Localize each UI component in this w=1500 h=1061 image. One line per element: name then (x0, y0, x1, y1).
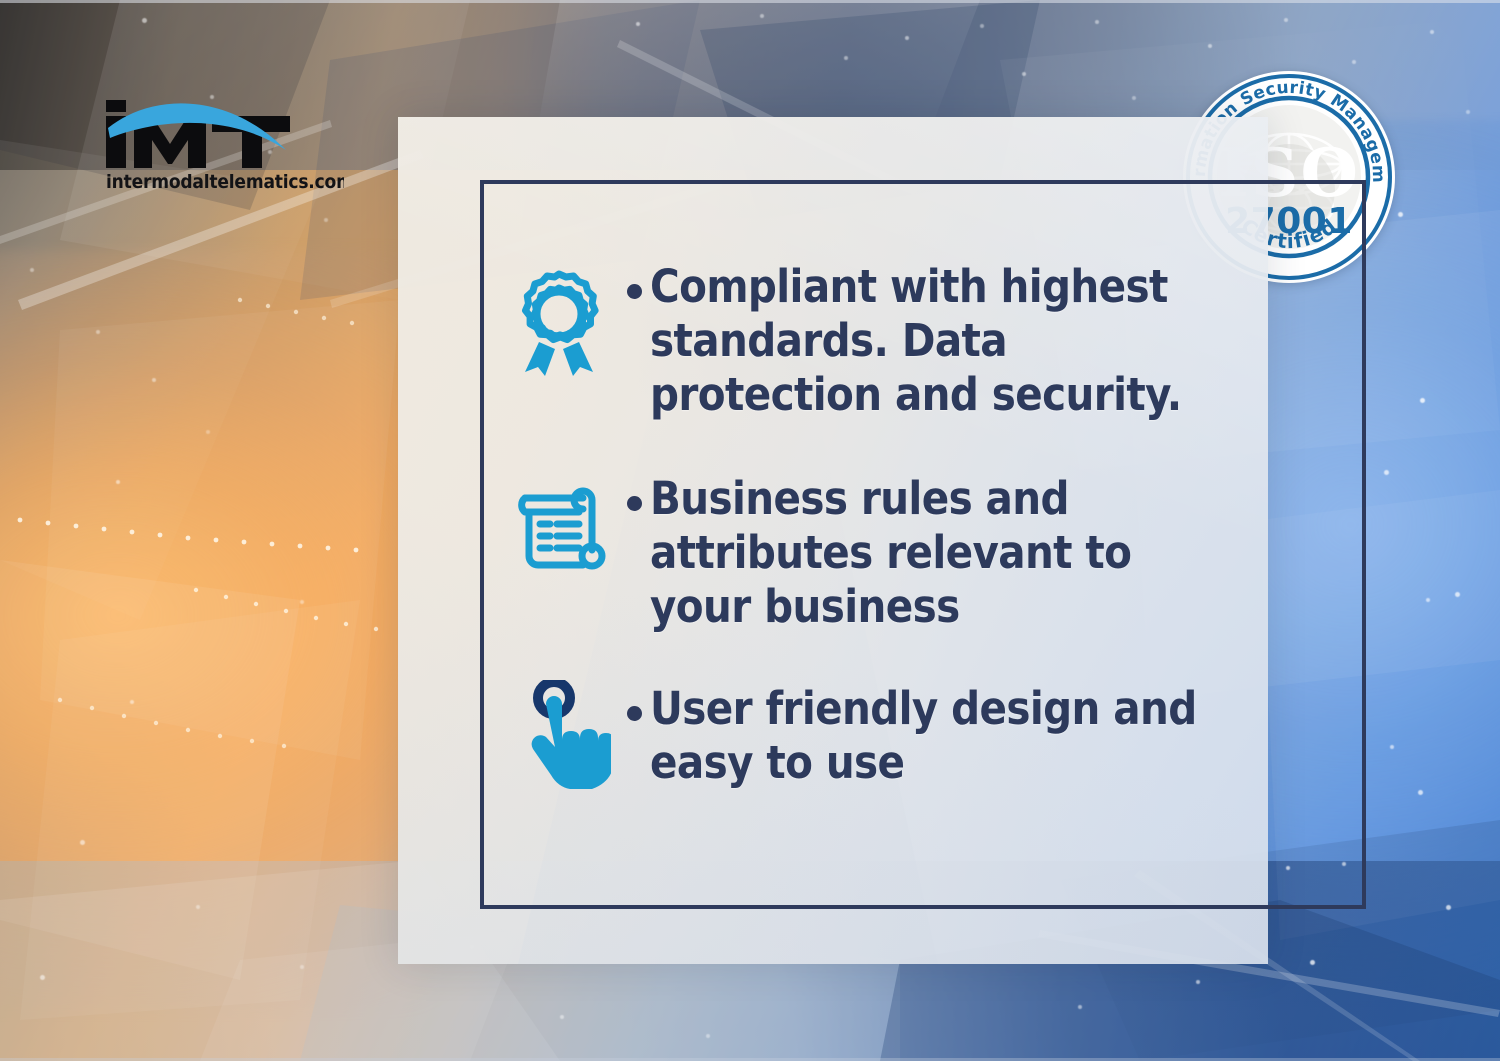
list-item: User friendly design and easy to use (500, 680, 1220, 798)
feature-text: Business rules and attributes relevant t… (650, 470, 1220, 634)
imt-swoosh-logo: intermodaltelematics.com (104, 88, 344, 194)
bullet-marker (618, 680, 650, 721)
list-item: Business rules and attributes relevant t… (500, 470, 1220, 634)
logo-tagline: intermodaltelematics.com (106, 171, 344, 193)
feature-list: Compliant with highest standards. Data p… (500, 258, 1220, 798)
canvas-top-edge (0, 0, 1500, 3)
list-item: Compliant with highest standards. Data p… (500, 258, 1220, 422)
hand-tap-icon (500, 680, 618, 798)
award-ribbon-icon (500, 258, 618, 376)
feature-text: User friendly design and easy to use (650, 680, 1220, 790)
bullet-marker (618, 470, 650, 511)
scroll-document-icon (500, 470, 618, 588)
feature-text: Compliant with highest standards. Data p… (650, 258, 1220, 422)
slide-canvas: intermodaltelematics.com (0, 0, 1500, 1061)
bullet-marker (618, 258, 650, 299)
imt-logo: intermodaltelematics.com (104, 88, 344, 194)
